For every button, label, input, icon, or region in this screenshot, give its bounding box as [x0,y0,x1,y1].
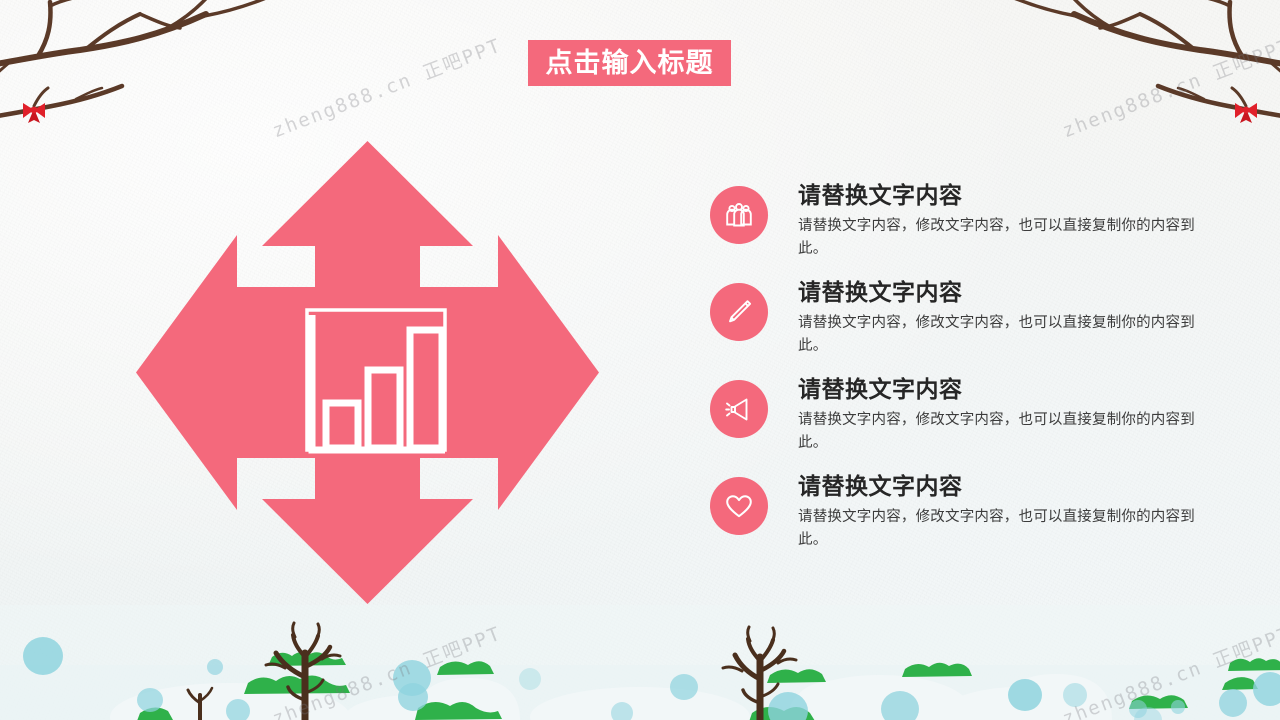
list-item-text: 请替换文字内容 请替换文字内容，修改文字内容，也可以直接复制你的内容到此。 [798,180,1198,260]
list-item-heading: 请替换文字内容 [798,277,1198,308]
people-group-icon [724,200,754,230]
list-item-text: 请替换文字内容 请替换文字内容，修改文字内容，也可以直接复制你的内容到此。 [798,471,1198,551]
watermark: zheng888.cn 正吧PPT [1058,31,1280,144]
red-bow-ornament [1235,103,1257,123]
list-item-heading: 请替换文字内容 [798,374,1198,405]
branch-decoration-top-right [1010,0,1280,144]
list-item-description: 请替换文字内容，修改文字内容，也可以直接复制你的内容到此。 [798,409,1198,454]
list-item-description: 请替换文字内容，修改文字内容，也可以直接复制你的内容到此。 [798,506,1198,551]
watermark: zheng888.cn 正吧PPT [268,31,505,144]
icon-badge[interactable] [710,283,768,341]
four-way-arrow-graphic[interactable] [130,135,605,610]
list-item-description: 请替换文字内容，修改文字内容，也可以直接复制你的内容到此。 [798,312,1198,357]
heart-icon [724,491,754,521]
page-title: 点击输入标题 [546,50,714,77]
red-bow-ornament [23,103,45,123]
winter-scene-decoration [0,605,1280,720]
icon-badge[interactable] [710,186,768,244]
list-item[interactable]: 请替换文字内容 请替换文字内容，修改文字内容，也可以直接复制你的内容到此。 [710,475,1210,572]
list-item-text: 请替换文字内容 请替换文字内容，修改文字内容，也可以直接复制你的内容到此。 [798,277,1198,357]
list-item-heading: 请替换文字内容 [798,471,1198,502]
icon-badge[interactable] [710,380,768,438]
branch-decoration-top-left [0,0,270,144]
list-item-description: 请替换文字内容，修改文字内容，也可以直接复制你的内容到此。 [798,215,1198,260]
megaphone-icon [724,394,754,424]
pencil-icon [724,297,754,327]
icon-badge[interactable] [710,477,768,535]
feature-list: 请替换文字内容 请替换文字内容，修改文字内容，也可以直接复制你的内容到此。 请替… [710,184,1210,572]
list-item-text: 请替换文字内容 请替换文字内容，修改文字内容，也可以直接复制你的内容到此。 [798,374,1198,454]
slide-canvas: 点击输入标题 [0,0,1280,720]
slide-title-banner[interactable]: 点击输入标题 [528,40,731,86]
list-item-heading: 请替换文字内容 [798,180,1198,211]
list-item[interactable]: 请替换文字内容 请替换文字内容，修改文字内容，也可以直接复制你的内容到此。 [710,281,1210,378]
list-item[interactable]: 请替换文字内容 请替换文字内容，修改文字内容，也可以直接复制你的内容到此。 [710,378,1210,475]
list-item[interactable]: 请替换文字内容 请替换文字内容，修改文字内容，也可以直接复制你的内容到此。 [710,184,1210,281]
